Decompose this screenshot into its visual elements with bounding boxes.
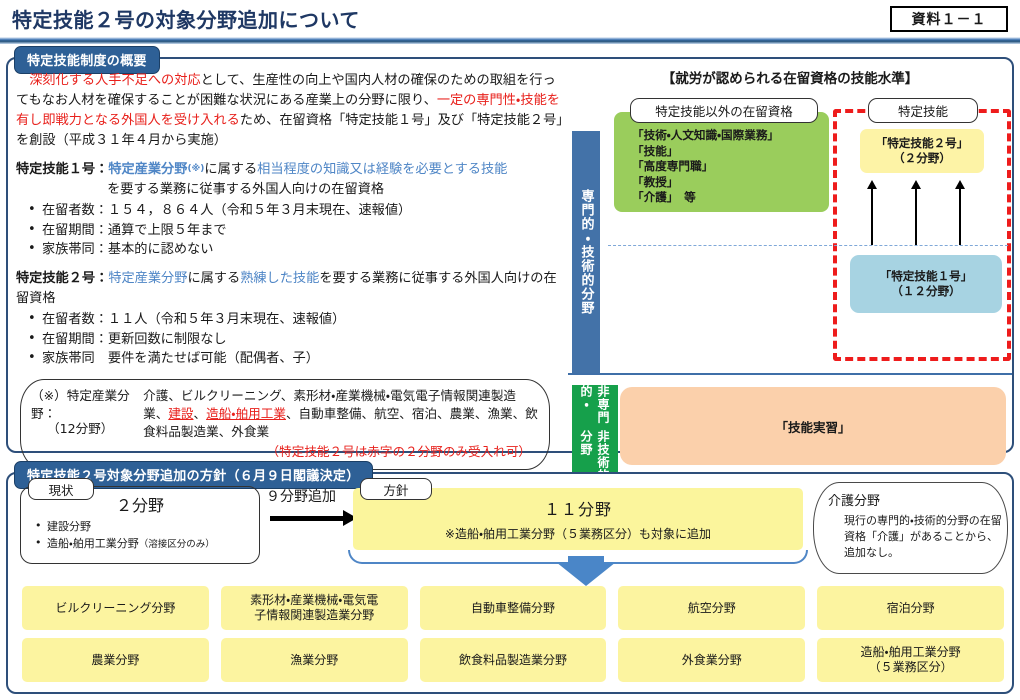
overview-text-column: 深刻化する人手不足への対応として、生産性の向上や国内人材の確保のための取組を行っ… xyxy=(16,71,564,470)
vertical-label-non-professional: 非専門的・ 非技術的分野 xyxy=(572,385,618,483)
green-item: 「高度専門職」 xyxy=(632,159,829,175)
no2-box-line1: 「特定技能２号」 xyxy=(876,136,969,151)
no1-bullet-list: 在留者数：１５４，８６４人（令和５年３月末現在、速報値） 在留期間：通算で上限５… xyxy=(22,201,564,260)
field-label-line1: 宿泊分野 xyxy=(887,601,935,616)
field-label-line1: 農業分野 xyxy=(91,653,139,668)
overview-panel: 特定技能制度の概要 深刻化する人手不足への対応として、生産性の向上や国内人材の確… xyxy=(6,57,1014,453)
dotted-divider xyxy=(608,245,1008,246)
document-badge: 資料１－１ xyxy=(890,6,1008,32)
list-item: 家族帯同 要件を満たせば可能（配偶者、子） xyxy=(22,349,564,369)
care-field-title: 介護分野 xyxy=(828,490,1007,509)
current-item-2: 造船・舶用工業分野 xyxy=(47,537,139,550)
no1-definition: 特定技能１号：特定産業分野(※)に属する相当程度の知識又は経験を必要とする技能を… xyxy=(16,160,564,200)
care-field-box: 介護分野 現行の専門的・技術的分野の在留資格「介護」があることから、追加なし。 xyxy=(813,482,1008,574)
add-fields-label: ９分野追加 xyxy=(266,486,336,506)
field-label-line1: 外食業分野 xyxy=(682,653,742,668)
green-item: 「介護」 等 xyxy=(632,190,829,206)
field-cell: 飲食料品製造業分野 xyxy=(420,638,607,682)
field-label-line1: 漁業分野 xyxy=(290,653,338,668)
list-item: 在留期間：通算で上限５年まで xyxy=(22,221,564,241)
list-item: 建設分野 xyxy=(29,519,215,536)
down-arrow-icon xyxy=(556,562,616,586)
no1-box-line1: 「特定技能１号」 xyxy=(880,269,973,284)
no2-definition: 特定技能２号：特定産業分野に属する熟練した技能を要する業務に従事する外国人向けの… xyxy=(16,269,564,309)
current-field-list: 建設分野 造船・舶用工業分野（溶接区分のみ） xyxy=(29,519,215,552)
field-label-line1: 自動車整備分野 xyxy=(471,601,555,616)
industry-fields-note: （※）特定産業分野： 介護、ビルクリーニング、素形材・産業機械・電気電子情報関連… xyxy=(20,379,550,471)
upgrade-arrow-icon xyxy=(959,187,961,245)
field-cell: 航空分野 xyxy=(618,586,805,630)
field-label-line1: 造船・舶用工業分野 xyxy=(861,645,961,660)
field-cell: 外食業分野 xyxy=(618,638,805,682)
field-cell: 素形材・産業機械・電気電子情報関連製造業分野 xyxy=(221,586,408,630)
no2-heading: 特定技能２号： xyxy=(16,271,108,286)
section-divider xyxy=(568,373,1012,375)
vertical-label-professional: 専門的・技術的分野 xyxy=(572,131,600,373)
qualification-level-diagram: 【就労が認められる在留資格の技能水準】 専門的・技術的分野 非専門的・ 非技術的… xyxy=(568,65,1012,447)
no1-box-line2: （１２分野） xyxy=(891,284,961,299)
note-red-kensetsu: 建設 xyxy=(168,406,193,421)
note-red-zosen: 造船・舶用工業 xyxy=(206,406,286,421)
field-label-line1: ビルクリーニング分野 xyxy=(55,601,175,616)
field-label-line2: 子情報関連製造業分野 xyxy=(254,608,374,623)
document-page: 特定技能２号の対象分野追加について 資料１－１ 特定技能制度の概要 深刻化する人… xyxy=(0,0,1020,700)
list-item: 在留者数：１１人（令和５年３月末現在、速報値） xyxy=(22,310,564,330)
care-field-text: 現行の専門的・技術的分野の在留資格「介護」があることから、追加なし。 xyxy=(828,513,1007,561)
title-divider xyxy=(0,37,1020,44)
green-item: 「教授」 xyxy=(632,175,829,191)
list-item: 在留者数：１５４，８６４人（令和５年３月末現在、速報値） xyxy=(22,201,564,221)
no2-bullet-list: 在留者数：１１人（令和５年３月末現在、速報値） 在留期間：更新回数に制限なし 家… xyxy=(22,310,564,369)
pill-specified-skilled: 特定技能 xyxy=(868,98,978,123)
field-cell: 宿泊分野 xyxy=(817,586,1004,630)
list-item: 造船・舶用工業分野（溶接区分のみ） xyxy=(29,536,215,553)
field-cell: 漁業分野 xyxy=(221,638,408,682)
note-first-row: （※）特定産業分野： 介護、ビルクリーニング、素形材・産業機械・電気電子情報関連… xyxy=(31,387,539,442)
list-item: 在留期間：更新回数に制限なし xyxy=(22,330,564,350)
policy-panel: 特定技能２号対象分野追加の方針（６月９日閣議決定） ２分野 建設分野 造船・舶用… xyxy=(6,472,1014,694)
policy-field-count: １１分野 xyxy=(544,496,612,520)
no1-ruby: (※) xyxy=(187,164,204,174)
no1-blue-1: 特定産業分野 xyxy=(108,162,187,177)
policy-supplement-note: ※造船・舶用工業分野（５業務区分）も対象に追加 xyxy=(445,525,711,542)
pill-current: 現状 xyxy=(28,478,94,500)
no1-blue-2: 相当程度の知識又は経験を必要とする技能 xyxy=(257,162,507,177)
pill-policy: 方針 xyxy=(360,478,432,500)
field-cell: 農業分野 xyxy=(22,638,209,682)
overview-panel-tab: 特定技能制度の概要 xyxy=(14,46,160,74)
field-cell: 自動車整備分野 xyxy=(420,586,607,630)
technical-intern-box: 「技能実習」 xyxy=(620,387,1006,465)
field-cell: ビルクリーニング分野 xyxy=(22,586,209,630)
note-label-line1: （※）特定産業分野： xyxy=(31,387,143,442)
overview-intro-paragraph: 深刻化する人手不足への対応として、生産性の向上や国内人材の確保のための取組を行っ… xyxy=(16,71,564,151)
field-label-line1: 航空分野 xyxy=(688,601,736,616)
page-title: 特定技能２号の対象分野追加について xyxy=(12,4,360,33)
no2-blue-2: 熟練した技能 xyxy=(240,271,319,286)
field-label-line2: （５業務区分） xyxy=(869,660,953,675)
right-arrow-icon xyxy=(270,516,344,521)
field-cell: 造船・舶用工業分野（５業務区分） xyxy=(817,638,1004,682)
no1-mid: に属する xyxy=(204,162,257,177)
no2-mid: に属する xyxy=(187,271,240,286)
no2-box-line2: （２分野） xyxy=(893,151,951,166)
upgrade-arrow-icon xyxy=(871,187,873,245)
list-item: 家族帯同：基本的に認めない xyxy=(22,240,564,260)
current-item-2-note: （溶接区分のみ） xyxy=(139,539,215,550)
note-footer: （特定技能２号は赤字の２分野のみ受入れ可） xyxy=(31,443,539,461)
note-sep: 、 xyxy=(194,406,207,421)
no2-blue-1: 特定産業分野 xyxy=(108,271,187,286)
specified-skilled-no2-box: 「特定技能２号」 （２分野） xyxy=(860,129,984,173)
vertical-label-non-col1: 非専門的・ xyxy=(578,385,612,430)
field-label-line1: 素形材・産業機械・電気電 xyxy=(250,593,378,608)
added-fields-grid: ビルクリーニング分野 素形材・産業機械・電気電子情報関連製造業分野 自動車整備分… xyxy=(22,586,1004,682)
upgrade-arrow-icon xyxy=(915,187,917,245)
specified-skilled-no1-box: 「特定技能１号」 （１２分野） xyxy=(850,255,1002,313)
field-label-line1: 飲食料品製造業分野 xyxy=(459,653,567,668)
pill-other-statuses: 特定技能以外の在留資格 xyxy=(630,98,818,123)
no1-heading: 特定技能１号： xyxy=(16,162,108,177)
diagram-title: 【就労が認められる在留資格の技能水準】 xyxy=(568,67,1012,87)
intro-seg-red-1: 深刻化する人手不足への対応 xyxy=(29,73,200,88)
no1-tail: を要する業務に従事する外国人向けの在留資格 xyxy=(16,180,564,200)
current-item-1: 建設分野 xyxy=(47,520,91,533)
green-item: 「技能」 xyxy=(632,144,829,160)
current-field-count: ２分野 xyxy=(116,492,164,516)
other-statuses-box: 「技術・人文知識・国際業務」 「技能」 「高度専門職」 「教授」 「介護」 等 xyxy=(614,112,829,212)
note-body: 介護、ビルクリーニング、素形材・産業機械・電気電子情報関連製造業、建設、造船・舶… xyxy=(143,387,539,442)
green-item: 「技術・人文知識・国際業務」 xyxy=(632,128,829,144)
